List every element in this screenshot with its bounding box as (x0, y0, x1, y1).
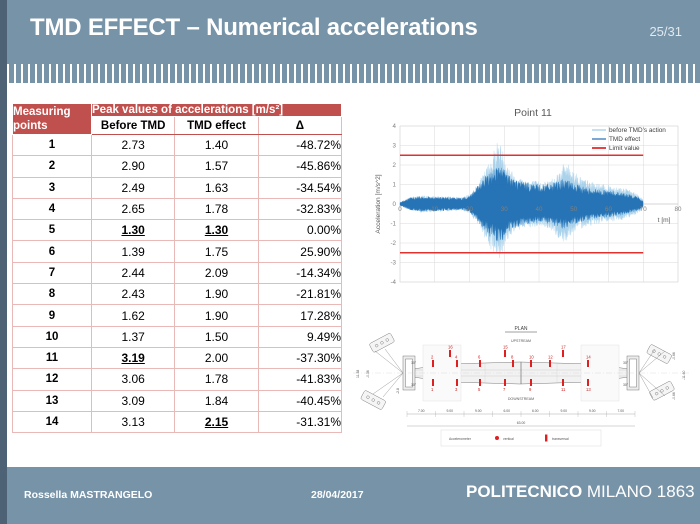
cell-before-tmd: 1.30 (92, 220, 175, 241)
table-row: 143.132.15-31.31% (13, 411, 342, 432)
cell-tmd-effect: 1.78 (175, 198, 258, 219)
plan-upstream-label: UPSTREAM (511, 339, 531, 343)
plan-dim-4: 6.00 (532, 409, 539, 413)
acceleration-chart: Point 11 01020304050607080 -4-3-2-101234… (372, 104, 694, 314)
x-tick-20: 20 (466, 206, 473, 213)
footer-brand: POLITECNICO MILANO 1863 (466, 482, 695, 502)
value-tmd-effect: 1.84 (205, 394, 228, 408)
value-before-tmd: 2.65 (121, 202, 144, 216)
value-before-tmd: 3.06 (121, 372, 144, 386)
cell-delta: 9.49% (258, 326, 341, 347)
svg-text:-0.36: -0.36 (366, 370, 370, 378)
cell-measuring-point: 1 (13, 135, 92, 156)
cell-before-tmd: 2.49 (92, 177, 175, 198)
plan-point-marker (456, 360, 458, 367)
plan-point-marker (530, 379, 532, 386)
cell-delta: -32.83% (258, 198, 341, 219)
y-tick--2: -2 (390, 240, 396, 247)
cell-measuring-point: 2 (13, 156, 92, 177)
header-measuring-points: Measuring points (13, 104, 92, 135)
cell-tmd-effect: 1.75 (175, 241, 258, 262)
cell-tmd-effect: 1.63 (175, 177, 258, 198)
cell-tmd-effect: 1.90 (175, 305, 258, 326)
plan-point-label-12: 12 (548, 355, 553, 360)
plan-legend-transversal: transversal (552, 437, 569, 441)
plan-canvas: PLAN UPSTREAM DOWNSTREAM (345, 318, 697, 458)
table-row: 51.301.300.00% (13, 220, 342, 241)
cell-measuring-point: 10 (13, 326, 92, 347)
svg-text:-0.66: -0.66 (672, 352, 676, 360)
table-row: 72.442.09-14.34% (13, 262, 342, 283)
legend-item-0: before TMD's action (609, 127, 666, 134)
plan-point-marker (456, 379, 458, 386)
cell-before-tmd: 2.43 (92, 284, 175, 305)
chart-x-axis-label: t [m] (658, 217, 671, 224)
table-row: 82.431.90-21.81% (13, 284, 342, 305)
plan-point-marker (512, 360, 514, 367)
cell-before-tmd: 1.37 (92, 326, 175, 347)
value-tmd-effect: 1.57 (205, 159, 228, 173)
cell-tmd-effect: 1.40 (175, 135, 258, 156)
vertical-marker-icon (495, 436, 499, 440)
legend-item-1: TMD effect (609, 136, 640, 143)
cell-tmd-effect: 1.30 (175, 220, 258, 241)
plan-legend-title: Accelerometer (449, 437, 472, 441)
cell-measuring-point: 11 (13, 347, 92, 368)
value-before-tmd: 2.90 (121, 159, 144, 173)
cell-tmd-effect: 1.50 (175, 326, 258, 347)
cell-measuring-point: 14 (13, 411, 92, 432)
plan-point-label-14: 14 (586, 355, 591, 360)
y-tick--4: -4 (390, 279, 396, 286)
plan-dimension-labels: 7.009.009.006.006.009.009.007.00 (407, 409, 635, 417)
plan-point-label-13: 13 (586, 387, 591, 392)
plan-dim-7: 7.00 (617, 409, 624, 413)
value-before-tmd: 1.37 (121, 330, 144, 344)
value-before-tmd: 3.09 (121, 394, 144, 408)
value-tmd-effect: 2.15 (205, 415, 228, 429)
x-tick-80: 80 (675, 206, 682, 213)
x-tick-0: 0 (398, 206, 402, 213)
x-tick-40: 40 (536, 206, 543, 213)
plan-point-label-10: 10 (529, 355, 534, 360)
table-row: 61.391.7525.90% (13, 241, 342, 262)
value-before-tmd: 2.43 (121, 287, 144, 301)
value-tmd-effect: 2.00 (205, 351, 228, 365)
chart-y-axis-ticks: -4-3-2-101234 (390, 123, 396, 286)
cell-before-tmd: 3.13 (92, 411, 175, 432)
cell-measuring-point: 4 (13, 198, 92, 219)
value-tmd-effect: 1.50 (205, 330, 228, 344)
y-tick-2: 2 (393, 162, 397, 169)
slide-header: TMD EFFECT – Numerical accelerations 25/… (0, 0, 700, 64)
plan-point-marker (562, 350, 564, 357)
plan-total-span-label: 63.00 (517, 421, 526, 425)
value-before-tmd: 1.30 (121, 223, 144, 237)
plan-point-label-17: 17 (561, 345, 566, 350)
value-before-tmd: 1.39 (121, 245, 144, 259)
cell-delta: -14.34% (258, 262, 341, 283)
page-title: TMD EFFECT – Numerical accelerations (30, 14, 478, 42)
accelerations-table: Measuring points Peak values of accelera… (12, 103, 342, 433)
plan-point-label-8: 8 (511, 355, 514, 360)
cell-measuring-point: 9 (13, 305, 92, 326)
cell-measuring-point: 3 (13, 177, 92, 198)
plan-point-marker (562, 379, 564, 386)
plan-point-label-7: 7 (503, 387, 506, 392)
cell-before-tmd: 2.90 (92, 156, 175, 177)
value-tmd-effect: 1.75 (205, 245, 228, 259)
chart-y-axis-label: Acceleration [m/s^2] (375, 174, 382, 233)
plan-point-marker (530, 360, 532, 367)
cell-delta: 17.28% (258, 305, 341, 326)
y-tick-0: 0 (393, 201, 397, 208)
plan-title: PLAN (514, 326, 527, 332)
cell-delta: -37.30% (258, 347, 341, 368)
value-before-tmd: 3.13 (121, 415, 144, 429)
cell-tmd-effect: 1.78 (175, 369, 258, 390)
footer-brand-bold: POLITECNICO (466, 482, 582, 501)
table-row: 22.901.57-45.86% (13, 156, 342, 177)
table-body: 12.731.40-48.72%22.901.57-45.86%32.491.6… (13, 135, 342, 433)
value-tmd-effect: 1.40 (205, 138, 228, 152)
plan-dim-5: 9.00 (560, 409, 567, 413)
header-peak-values: Peak values of accelerations [m/s²] (92, 104, 342, 117)
cell-measuring-point: 13 (13, 390, 92, 411)
legend-item-2: Limit value (609, 145, 640, 152)
plan-point-marker (479, 379, 481, 386)
table-row: 32.491.63-34.54% (13, 177, 342, 198)
cell-measuring-point: 7 (13, 262, 92, 283)
y-tick-3: 3 (393, 143, 397, 150)
slide-footer: Rossella MASTRANGELO 28/04/2017 POLITECN… (0, 467, 700, 524)
x-tick-70: 70 (640, 206, 647, 213)
chart-canvas: 01020304050607080 -4-3-2-101234 t [m] Ac… (372, 104, 694, 314)
plan-point-label-9: 9 (529, 387, 532, 392)
plan-dim-3: 6.00 (503, 409, 510, 413)
table-row: 12.731.40-48.72% (13, 135, 342, 156)
header-before-tmd: Before TMD (92, 117, 175, 135)
cell-tmd-effect: 1.57 (175, 156, 258, 177)
y-tick-4: 4 (393, 123, 397, 130)
transversal-marker-icon (545, 435, 547, 442)
plan-point-marker (432, 379, 434, 386)
value-tmd-effect: 1.63 (205, 181, 228, 195)
svg-text:11.38: 11.38 (356, 370, 360, 378)
cell-tmd-effect: 2.15 (175, 411, 258, 432)
cell-delta: -31.31% (258, 411, 341, 432)
cell-tmd-effect: 2.09 (175, 262, 258, 283)
cell-before-tmd: 1.39 (92, 241, 175, 262)
cell-delta: -34.54% (258, 177, 341, 198)
measuring-points-line2: points (13, 120, 48, 132)
footer-brand-light: MILANO 1863 (582, 482, 694, 501)
table-header-row-1: Measuring points Peak values of accelera… (13, 104, 342, 117)
bridge-plan-drawing: PLAN UPSTREAM DOWNSTREAM (345, 318, 697, 458)
plan-point-label-5: 5 (478, 387, 481, 392)
x-tick-50: 50 (570, 206, 577, 213)
plan-point-marker (504, 379, 506, 386)
plan-point-label-11: 11 (561, 387, 566, 392)
plan-dim-6: 9.00 (589, 409, 596, 413)
plan-legend-vertical: vertical (503, 437, 514, 441)
page-number: 25/31 (649, 24, 682, 39)
value-tmd-effect: 1.78 (205, 202, 228, 216)
header-tmd-effect: TMD effect (175, 117, 258, 135)
y-tick--1: -1 (390, 221, 396, 228)
plan-point-marker (432, 360, 434, 367)
cell-before-tmd: 3.19 (92, 347, 175, 368)
plan-dim-2: 9.00 (475, 409, 482, 413)
accelerations-table-container: Measuring points Peak values of accelera… (12, 103, 342, 433)
plan-point-marker (504, 350, 506, 357)
value-tmd-effect: 1.78 (205, 372, 228, 386)
value-before-tmd: 2.73 (121, 138, 144, 152)
table-row: 42.651.78-32.83% (13, 198, 342, 219)
cell-delta: -48.72% (258, 135, 341, 156)
svg-text:30°: 30° (623, 361, 629, 365)
cell-tmd-effect: 1.84 (175, 390, 258, 411)
cell-delta: -45.86% (258, 156, 341, 177)
value-tmd-effect: 1.90 (205, 287, 228, 301)
plan-point-marker (549, 360, 551, 367)
svg-text:-2.8: -2.8 (396, 388, 400, 394)
svg-text:30°: 30° (411, 361, 417, 365)
cell-measuring-point: 6 (13, 241, 92, 262)
plan-point-label-16: 16 (448, 345, 453, 350)
footer-author: Rossella MASTRANGELO (24, 489, 152, 501)
plan-point-marker (479, 360, 481, 367)
plan-dim-0: 7.00 (418, 409, 425, 413)
plan-point-marker (449, 350, 451, 357)
cell-delta: 0.00% (258, 220, 341, 241)
table-row: 113.192.00-37.30% (13, 347, 342, 368)
plan-point-marker (587, 360, 589, 367)
svg-text:30°: 30° (411, 383, 417, 387)
cell-tmd-effect: 1.90 (175, 284, 258, 305)
plan-downstream-label: DOWNSTREAM (508, 397, 534, 401)
table-row: 101.371.509.49% (13, 326, 342, 347)
measuring-points-line1: Measuring (13, 106, 71, 118)
plan-point-marker (587, 379, 589, 386)
cell-before-tmd: 3.06 (92, 369, 175, 390)
svg-text:30°: 30° (623, 383, 629, 387)
x-tick-60: 60 (605, 206, 612, 213)
y-tick--3: -3 (390, 260, 396, 267)
plan-dim-1: 9.00 (446, 409, 453, 413)
plan-point-label-15: 15 (503, 345, 508, 350)
svg-text:-0.66: -0.66 (672, 392, 676, 400)
value-tmd-effect: 1.90 (205, 309, 228, 323)
footer-date: 28/04/2017 (311, 489, 364, 501)
svg-text:-11.60: -11.60 (682, 371, 686, 380)
value-tmd-effect: 1.30 (205, 223, 228, 237)
y-tick-1: 1 (393, 182, 397, 189)
cell-before-tmd: 2.73 (92, 135, 175, 156)
cell-before-tmd: 2.65 (92, 198, 175, 219)
header-stripe-band (0, 64, 700, 83)
cell-delta: -41.83% (258, 369, 341, 390)
plan-legend: Accelerometer vertical transversal (441, 430, 601, 446)
value-before-tmd: 1.62 (121, 309, 144, 323)
cell-before-tmd: 1.62 (92, 305, 175, 326)
x-tick-10: 10 (431, 206, 438, 213)
cell-delta: 25.90% (258, 241, 341, 262)
cell-before-tmd: 3.09 (92, 390, 175, 411)
value-tmd-effect: 2.09 (205, 266, 228, 280)
cell-measuring-point: 12 (13, 369, 92, 390)
table-head: Measuring points Peak values of accelera… (13, 104, 342, 135)
value-before-tmd: 3.19 (121, 351, 144, 365)
table-row: 91.621.9017.28% (13, 305, 342, 326)
table-row: 133.091.84-40.45% (13, 390, 342, 411)
cell-delta: -21.81% (258, 284, 341, 305)
cell-delta: -40.45% (258, 390, 341, 411)
header-delta: Δ (258, 117, 341, 135)
value-before-tmd: 2.49 (121, 181, 144, 195)
left-edge-strip (0, 0, 7, 524)
plan-point-label-6: 6 (478, 355, 481, 360)
value-before-tmd: 2.44 (121, 266, 144, 280)
x-tick-30: 30 (501, 206, 508, 213)
cell-before-tmd: 2.44 (92, 262, 175, 283)
cell-measuring-point: 8 (13, 284, 92, 305)
table-row: 123.061.78-41.83% (13, 369, 342, 390)
cell-tmd-effect: 2.00 (175, 347, 258, 368)
cell-measuring-point: 5 (13, 220, 92, 241)
